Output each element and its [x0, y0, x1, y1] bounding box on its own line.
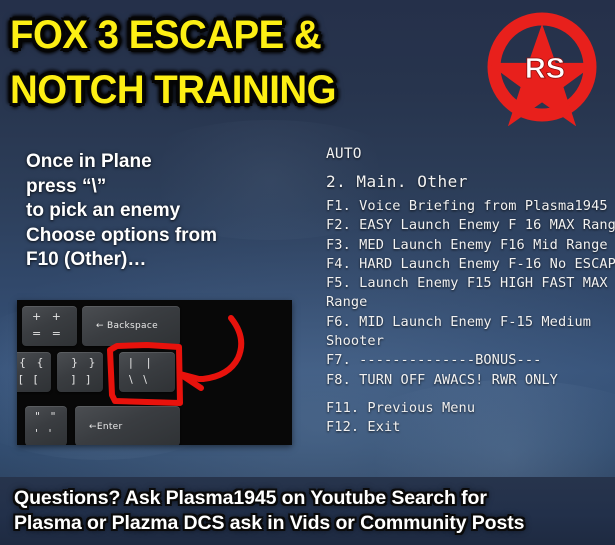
quote-key-symbols: ' ': [35, 428, 52, 439]
instruction-line: Choose options from: [26, 224, 316, 249]
menu-item-f7[interactable]: F7. --------------BONUS---: [326, 351, 615, 370]
red-arrow-annotation: [203, 318, 241, 379]
instruction-line: to pick an enemy: [26, 199, 316, 224]
red-arrow-head-annotation: [180, 374, 203, 388]
menu-item-f6[interactable]: F6. MID Launch Enemy F-15 Medium Shooter: [326, 313, 615, 352]
footer-line-1: Questions? Ask Plasma1945 on Youtube Sea…: [14, 486, 615, 511]
menu-item-f5[interactable]: F5. Launch Enemy F15 HIGH FAST MAX Range: [326, 274, 615, 313]
backslash-key-symbols: \ \: [129, 374, 147, 385]
menu-heading: 2. Main. Other: [326, 166, 615, 197]
page-title: FOX 3 ESCAPE & NOTCH TRAINING: [10, 8, 430, 118]
menu-item-f8[interactable]: F8. TURN OFF AWACS! RWR ONLY: [326, 371, 615, 390]
plus-equals-key-symbols: + +: [32, 311, 61, 322]
title-line-2: NOTCH TRAINING: [10, 63, 413, 118]
menu-item-f2[interactable]: F2. EASY Launch Enemy F 16 MAX Range: [326, 216, 615, 235]
bracket-right-key-symbols: } }: [71, 357, 96, 368]
training-slide: FOX 3 ESCAPE & NOTCH TRAINING RS Once in…: [0, 0, 615, 545]
menu-item-f3[interactable]: F3. MED Launch Enemy F16 Mid Range: [326, 236, 615, 255]
menu-item-f4[interactable]: F4. HARD Launch Enemy F-16 No ESCAPE: [326, 255, 615, 274]
plus-equals-key-symbols: = =: [32, 328, 61, 339]
logo-text: RS: [525, 53, 565, 85]
backspace-key-label: ← Backspace: [96, 321, 158, 331]
rs-logo: RS: [483, 8, 601, 126]
title-line-1: FOX 3 ESCAPE &: [10, 8, 413, 63]
quote-key-symbols: " ": [35, 411, 56, 422]
bracket-right-key-symbols: ] ]: [71, 374, 90, 385]
instruction-line: F10 (Other)…: [26, 248, 316, 273]
enter-key-label: ←Enter: [89, 422, 123, 432]
instruction-line: press “\”: [26, 175, 316, 200]
red-star-circle-icon: RS: [483, 8, 601, 126]
menu-auto-label: AUTO: [326, 143, 615, 166]
menu-spacer: [326, 390, 615, 399]
bracket-left-key-symbols: [ [: [19, 374, 38, 385]
instruction-line: Once in Plane: [26, 150, 316, 175]
radio-menu-panel: AUTO 2. Main. Other F1. Voice Briefing f…: [326, 143, 615, 438]
bracket-left-key-symbols: { {: [19, 357, 44, 368]
menu-item-f11[interactable]: F11. Previous Menu: [326, 399, 615, 418]
footer-line-2: Plasma or Plazma DCS ask in Vids or Comm…: [14, 511, 615, 536]
keyboard-photo: + + = = ← Backspace { { [ [ } } ] ] | | …: [17, 300, 292, 445]
menu-item-f12[interactable]: F12. Exit: [326, 418, 615, 437]
menu-item-f1[interactable]: F1. Voice Briefing from Plasma1945: [326, 197, 615, 216]
footer-banner: Questions? Ask Plasma1945 on Youtube Sea…: [0, 477, 615, 545]
backslash-key-symbols: | |: [129, 357, 150, 368]
instructions-block: Once in Plane press “\” to pick an enemy…: [26, 150, 316, 273]
